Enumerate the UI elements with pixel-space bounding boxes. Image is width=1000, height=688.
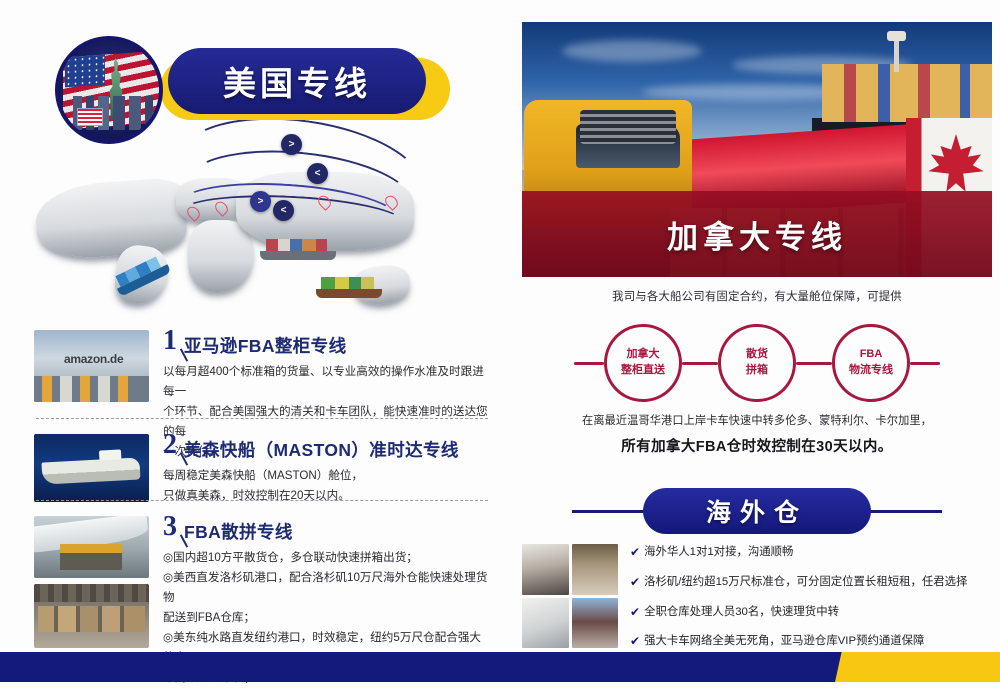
service-heading: 1 亚马逊FBA整柜专线 xyxy=(163,330,489,358)
canada-intro-text: 我司与各大船公司有固定合约，有大量舱位保障，可提供 xyxy=(522,288,992,304)
oversea-warehouse-banner: 海外仓 xyxy=(522,488,992,534)
canada-and-oversea-column: 加拿大专线 我司与各大船公司有固定合约，有大量舱位保障，可提供 加拿大 整柜直送… xyxy=(515,0,1000,648)
vessel-shape xyxy=(41,457,140,484)
badge-connector-line xyxy=(682,362,718,365)
badge-full-container-direct[interactable]: 加拿大 整柜直送 xyxy=(604,324,682,402)
badge-line-2: 整柜直送 xyxy=(621,363,665,379)
container-ship-icon xyxy=(316,274,382,298)
service-heading: 2 美森快船（MASTON）准时达专线 xyxy=(163,434,489,462)
amazon-warehouse-photo-icon xyxy=(34,330,149,402)
service-heading: 3 FBA散拼专线 xyxy=(163,516,489,544)
service-number: 1 xyxy=(163,328,177,353)
desk-laptop-photo-icon xyxy=(522,598,569,649)
us-line-column: 美国专线 > < > < xyxy=(0,0,505,648)
air-cargo-plane-photo-icon xyxy=(34,516,149,578)
service-body: 2 美森快船（MASTON）准时达专线 每周稳定美森快船（MASTON）舱位， … xyxy=(163,434,489,506)
route-direction-arrow-icon: < xyxy=(273,200,294,221)
oversea-photo-grid xyxy=(522,544,618,648)
container-ship-icon xyxy=(260,236,336,260)
container-ship-photo-icon xyxy=(34,434,149,502)
check-mark-icon: ✔ xyxy=(630,546,640,559)
stacked-containers xyxy=(822,64,992,122)
service-line: ◎美西直发洛杉矶港口，配合洛杉矶10万尺海外仓能快速处理货物 xyxy=(163,568,489,608)
world-map-shipping-routes-icon: > < > < xyxy=(28,138,493,318)
list-item-label: 全职仓库处理人员30名，快速理货中转 xyxy=(644,606,839,620)
warehouse-interior-photo-icon xyxy=(572,544,619,595)
badge-fba-logistics-line[interactable]: FBA 物流专线 xyxy=(832,324,910,402)
canada-title-band: 加拿大专线 xyxy=(522,191,992,277)
us-title-pill: 美国专线 xyxy=(168,48,426,114)
canada-footer-line-2: 所有加拿大FBA仓时效控制在30天以内。 xyxy=(522,435,992,456)
service-title: 美森快船（MASTON）准时达专线 xyxy=(184,434,459,462)
oversea-warehouse-content: ✔ 海外华人1对1对接，沟通顺畅 ✔ 洛杉矶/纽约超15万尺标准仓，可分固定位置… xyxy=(522,544,992,649)
map-pin-icon xyxy=(216,201,227,215)
list-item-label: 强大卡车网络全美无死角，亚马逊仓库VIP预约通道保障 xyxy=(644,635,924,649)
map-pin-icon xyxy=(386,195,397,209)
oversea-section-title: 海外仓 xyxy=(706,493,808,529)
check-mark-icon: ✔ xyxy=(630,606,640,619)
us-flag-canton xyxy=(65,55,105,88)
ship-cargo xyxy=(266,239,327,251)
map-pin-icon xyxy=(188,206,199,220)
truck-grille xyxy=(580,110,676,144)
service-line: 以每月超400个标准箱的货量、以专业高效的操作水准及时跟进每一 xyxy=(163,362,489,402)
badge-lcl-consolidation[interactable]: 散货 拼箱 xyxy=(718,324,796,402)
truck-container-ship-canada-flag-photo-icon: 加拿大专线 xyxy=(522,22,992,277)
canada-section-title: 加拿大专线 xyxy=(667,212,847,257)
container-yard-photo-icon xyxy=(572,598,619,649)
office-worker-photo-icon xyxy=(522,544,569,595)
ship-hull xyxy=(260,251,336,260)
oversea-feature-list: ✔ 海外华人1对1对接，沟通顺畅 ✔ 洛杉矶/纽约超15万尺标准仓，可分固定位置… xyxy=(630,544,992,649)
service-number: 2 xyxy=(163,432,177,457)
section-divider xyxy=(36,500,488,501)
loading-bays xyxy=(34,376,149,402)
canada-footer-line-1: 在离最近温哥华港口上岸卡车快速中转多伦多、蒙特利尔、卡尔加里， xyxy=(522,412,992,428)
us-section-title: 美国专线 xyxy=(223,57,371,105)
list-item: ✔ 强大卡车网络全美无死角，亚马逊仓库VIP预约通道保障 xyxy=(630,635,992,649)
ship-hull xyxy=(316,289,382,298)
oversea-title-pill: 海外仓 xyxy=(643,488,871,534)
warehouse-pallets-photo-icon xyxy=(34,584,149,648)
route-direction-arrow-icon: < xyxy=(307,163,328,184)
ship-mast xyxy=(894,38,899,72)
warehouse-pallets xyxy=(38,606,145,632)
check-mark-icon: ✔ xyxy=(630,576,640,589)
warehouse-roof xyxy=(34,584,149,602)
route-direction-arrow-icon: > xyxy=(250,191,271,212)
badge-line-1: 加拿大 xyxy=(627,347,660,363)
us-flag-statue-of-liberty-emblem-icon xyxy=(55,36,163,144)
service-line: 每周稳定美森快船（MASTON）舱位， xyxy=(163,466,489,486)
service-line: 只做真美森，时效控制在20天以内。 xyxy=(163,486,489,506)
map-pin-icon xyxy=(319,195,330,209)
list-item: ✔ 海外华人1对1对接，沟通顺畅 xyxy=(630,546,992,560)
bottom-bar-gold xyxy=(835,652,1000,682)
ship-cargo xyxy=(321,277,374,289)
badge-line-1: 散货 xyxy=(746,347,768,363)
canada-footer-text: 在离最近温哥华港口上岸卡车快速中转多伦多、蒙特利尔、卡尔加里， 所有加拿大FBA… xyxy=(522,412,992,456)
badge-connector-line xyxy=(574,362,604,365)
service-title: FBA散拼专线 xyxy=(184,516,293,544)
badge-line-2: 拼箱 xyxy=(746,363,768,379)
canada-service-badges: 加拿大 整柜直送 散货 拼箱 FBA 物流专线 xyxy=(522,322,992,404)
badge-connector-line xyxy=(796,362,832,365)
list-item: ✔ 全职仓库处理人员30名，快速理货中转 xyxy=(630,606,992,620)
check-mark-icon: ✔ xyxy=(630,635,640,648)
badge-line-1: FBA xyxy=(860,347,883,363)
section-divider xyxy=(36,418,488,419)
service-item-2: 2 美森快船（MASTON）准时达专线 每周稳定美森快船（MASTON）舱位， … xyxy=(34,434,489,506)
small-us-flag-icon xyxy=(77,108,103,126)
list-item-label: 海外华人1对1对接，沟通顺畅 xyxy=(644,546,793,560)
route-direction-arrow-icon: > xyxy=(281,134,302,155)
cargo-loader xyxy=(60,544,122,570)
list-item-label: 洛杉矶/纽约超15万尺标准仓，可分固定位置长租短租，任君选择 xyxy=(644,576,967,590)
service-line: 配送到FBA仓库； xyxy=(163,608,489,628)
service-title: 亚马逊FBA整柜专线 xyxy=(184,330,346,358)
badge-line-2: 物流专线 xyxy=(849,363,893,379)
service-line: ◎国内超10方平散货仓，多仓联动快速拼箱出货； xyxy=(163,548,489,568)
list-item: ✔ 洛杉矶/纽约超15万尺标准仓，可分固定位置长租短租，任君选择 xyxy=(630,576,992,590)
bottom-accent-bar xyxy=(0,652,1000,682)
service-number: 3 xyxy=(163,514,177,539)
cloud xyxy=(562,40,702,62)
bottom-bar-navy xyxy=(0,652,870,682)
badge-connector-line xyxy=(910,362,940,365)
continent-north-america xyxy=(34,177,189,261)
